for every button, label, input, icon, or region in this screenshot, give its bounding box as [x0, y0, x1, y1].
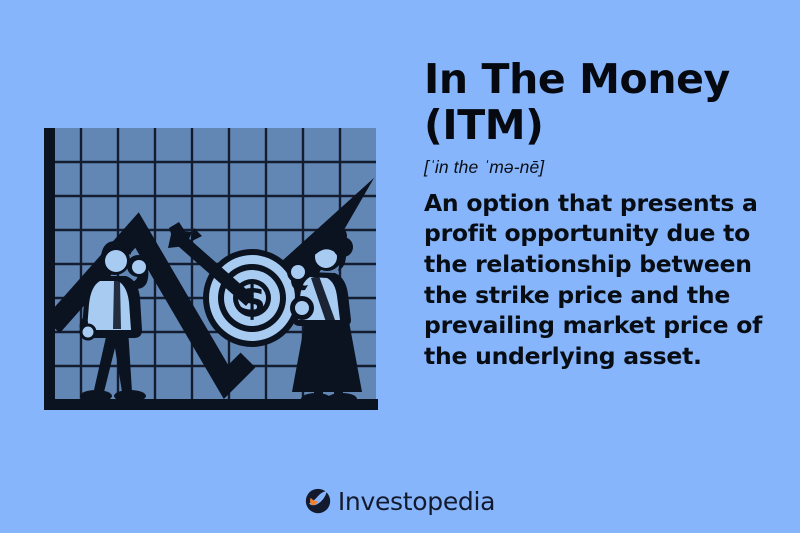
brand-name: Investopedia	[338, 489, 495, 514]
definition-card: $	[0, 0, 800, 533]
text-column: In The Money (ITM) [ˈin the ˈmə-nē] An o…	[424, 56, 790, 371]
illustration-svg: $	[36, 120, 384, 420]
illustration-stock-chart: $	[36, 120, 384, 420]
investopedia-logo-mark-icon	[305, 488, 331, 514]
page-title: In The Money (ITM)	[424, 56, 790, 149]
definition-text: An option that presents a profit opportu…	[424, 188, 790, 371]
y-axis	[44, 128, 55, 410]
x-axis	[44, 399, 378, 410]
brand-logo: Investopedia	[0, 488, 800, 514]
pronunciation: [ˈin the ˈmə-nē]	[424, 158, 790, 177]
